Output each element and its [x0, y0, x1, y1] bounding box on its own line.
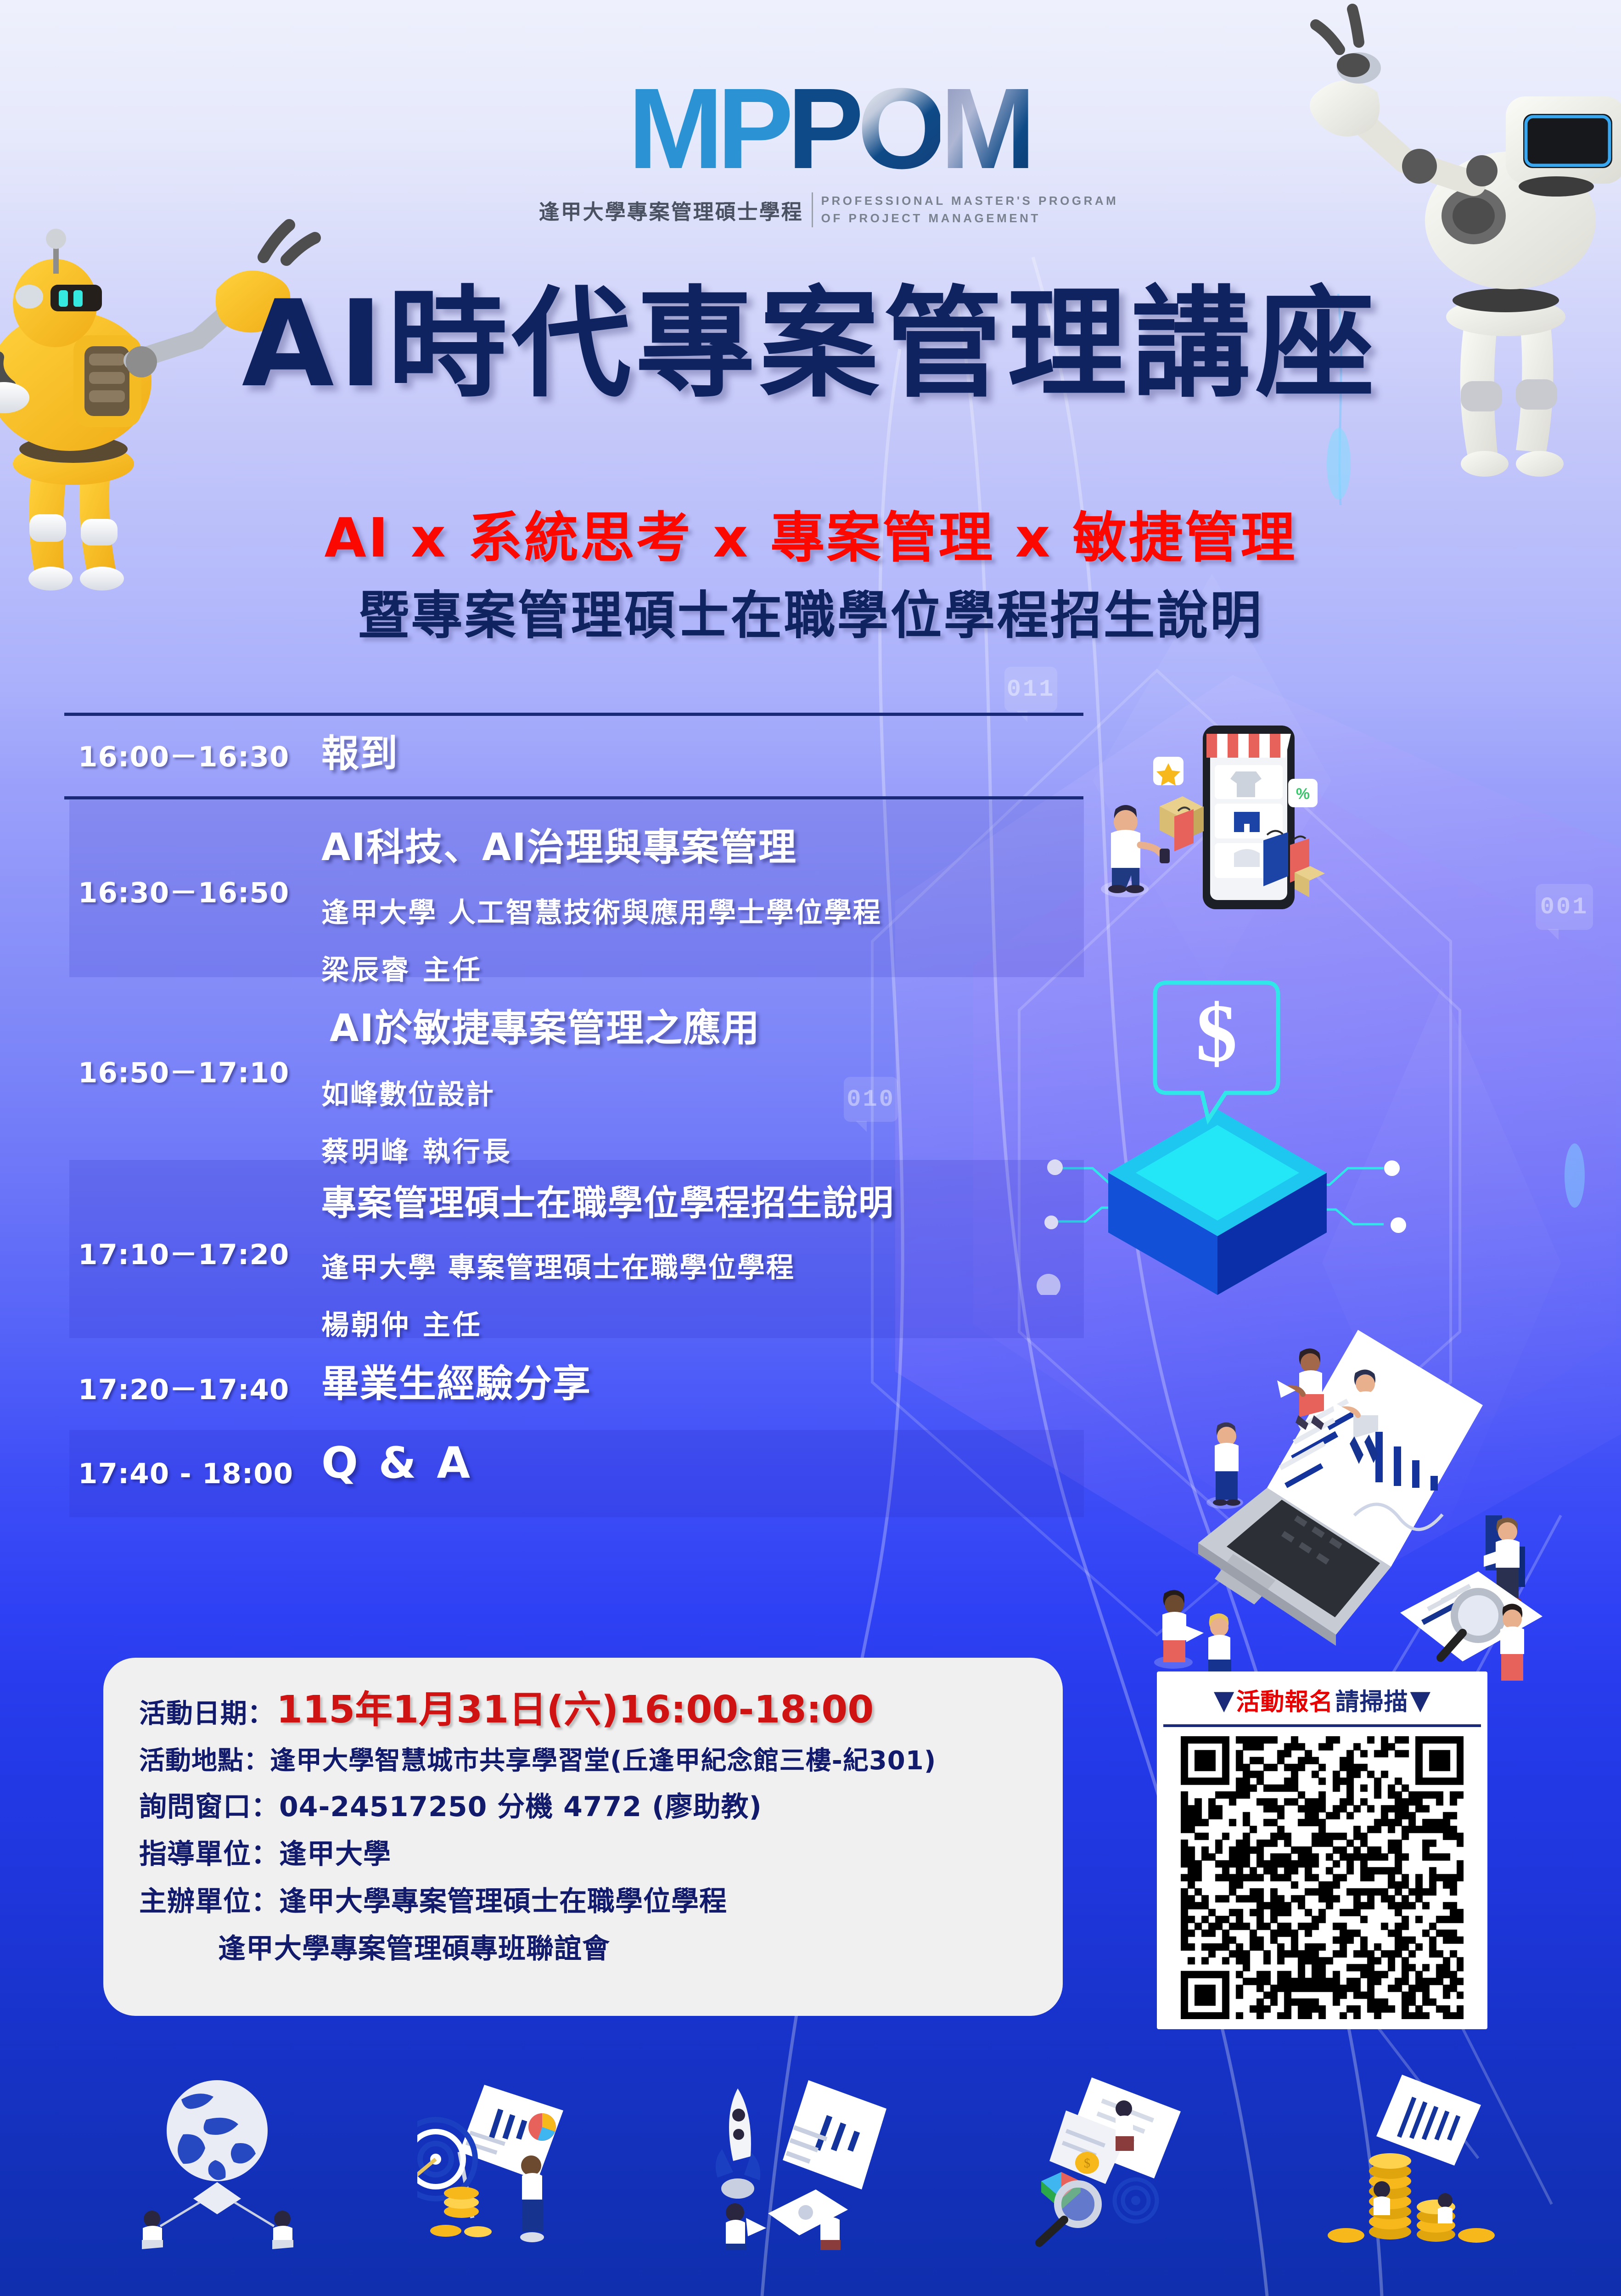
info-date-label: 活動日期：	[139, 1692, 275, 1730]
info-date-row: 活動日期： 115年1月31日(六)16:00-18:00	[103, 1679, 1063, 1733]
info-date-value: 115年1月31日(六)16:00-18:00	[276, 1679, 874, 1733]
schedule-topic-2: AI科技、AI治理與專案管理	[321, 816, 1070, 871]
schedule-topic-4: 專案管理碩士在職學位學程招生說明	[321, 1175, 1070, 1225]
schedule-org-4: 逢甲大學 專案管理碩士在職學位學程	[321, 1245, 1070, 1285]
svg-text:$: $	[1196, 987, 1237, 1079]
footer-illustration-row: $	[0, 2057, 1621, 2250]
qr-caption-red: 活動報名	[1236, 1683, 1333, 1717]
info-organizer: 主辦單位：逢甲大學專案管理碩士在職學位學程	[103, 1879, 1063, 1919]
schedule-org-2: 逢甲大學 人工智慧技術與應用學士學位學程	[321, 890, 1070, 930]
triangle-down-right-icon: ▼	[1410, 1687, 1431, 1713]
schedule-row-3: 16:50－17:10 AI於敏捷專案管理之應用 如峰數位設計 蔡明峰 執行長	[0, 981, 1129, 1158]
triangle-down-left-icon: ▼	[1214, 1687, 1234, 1713]
schedule-org-3: 如峰數位設計	[321, 1072, 1116, 1112]
logo-subtitle-english: PROFESSIONAL MASTER'S PROGRAM OF PROJECT…	[821, 192, 1119, 227]
logo-divider	[812, 192, 813, 227]
schedule-speaker-4: 楊朝仲 主任	[321, 1303, 1070, 1343]
rocket-analytics-illustration	[714, 2066, 907, 2250]
coins-growth-illustration	[1307, 2066, 1500, 2250]
schedule-topic-5: 畢業生經驗分享	[321, 1353, 1116, 1407]
schedule-body-2: AI科技、AI治理與專案管理 逢甲大學 人工智慧技術與應用學士學位學程 梁辰睿 …	[321, 816, 1070, 988]
qr-code-image[interactable]	[1181, 1736, 1464, 2019]
schedule-time-1: 16:00－16:30	[78, 734, 289, 775]
subtitle-navy: 暨專案管理碩士在職學位學程招生說明	[0, 574, 1621, 648]
schedule-body-3: AI於敏捷專案管理之應用 如峰數位設計 蔡明峰 執行長	[330, 997, 1116, 1170]
globe-network-illustration	[121, 2066, 314, 2250]
person-pair-bottom	[1154, 1590, 1231, 1681]
magnifier-document	[1400, 1571, 1542, 1681]
decor-tag-001: 001	[1536, 884, 1593, 930]
target-dashboard-illustration	[417, 2066, 610, 2250]
schedule-body-1: 報到	[321, 723, 1116, 777]
logo-wordmark: MPPOM	[628, 71, 1029, 186]
mppm-logo: MPPOM 逢甲大學專案管理碩士學程 PROFESSIONAL MASTER'S…	[530, 71, 1127, 269]
subtitle-red: AI x 系統思考 x 專案管理 x 敏捷管理	[0, 494, 1621, 572]
decor-tag-011: 011	[1004, 667, 1057, 712]
page-title: AI時代專案管理講座	[0, 285, 1621, 404]
schedule-time-2: 16:30－16:50	[78, 870, 289, 911]
info-advisor: 指導單位：逢甲大學	[103, 1832, 1063, 1872]
qr-caption: ▼ 活動報名 請掃描 ▼	[1163, 1678, 1481, 1727]
info-venue: 活動地點：逢甲大學智慧城市共享學習堂(丘逢甲紀念館三樓-紀301)	[103, 1740, 1063, 1777]
schedule-row-4: 17:10－17:20 專案管理碩士在職學位學程招生說明 逢甲大學 專案管理碩士…	[69, 1160, 1084, 1338]
logo-letter-p: P	[787, 64, 858, 192]
schedule-topic-3: AI於敏捷專案管理之應用	[330, 997, 1116, 1052]
logo-subtitle-en-line2: OF PROJECT MANAGEMENT	[821, 210, 1119, 227]
schedule-divider-row1	[64, 796, 1083, 799]
qr-registration-block[interactable]: ▼ 活動報名 請掃描 ▼	[1157, 1671, 1487, 2029]
schedule-row-6: 17:40 - 18:00 Q & A	[69, 1430, 1084, 1517]
person-standing-left	[1206, 1422, 1243, 1509]
schedule-row-5: 17:20－17:40 畢業生經驗分享	[0, 1338, 1129, 1430]
event-info-card: 活動日期： 115年1月31日(六)16:00-18:00 活動地點：逢甲大學智…	[103, 1658, 1063, 2016]
schedule-body-4: 專案管理碩士在職學位學程招生說明 逢甲大學 專案管理碩士在職學位學程 楊朝仲 主…	[321, 1175, 1070, 1343]
svg-text:$: $	[1084, 2156, 1090, 2171]
logo-subtitle-en-line1: PROFESSIONAL MASTER'S PROGRAM	[821, 192, 1119, 210]
info-contact: 詢問窗口：04-24517250 分機 4772 (廖助教)	[103, 1784, 1063, 1824]
schedule-topic-6: Q & A	[321, 1438, 1070, 1488]
schedule-topic-1: 報到	[321, 723, 1116, 777]
schedule-time-5: 17:20－17:40	[78, 1367, 289, 1407]
info-organizer-secondary: 逢甲大學專案管理碩專班聯誼會	[103, 1926, 1063, 1966]
schedule-row-1: 16:00－16:30 報到	[0, 713, 1129, 796]
qr-caption-navy: 請掃描	[1335, 1683, 1408, 1717]
laptop-team-illustration	[1116, 1240, 1621, 1681]
logo-letters-mp: MP	[628, 64, 787, 192]
poster-canvas: 011 001 010 MPPOM 逢甲大學專案管理碩士學程 PROFESSIO…	[0, 0, 1621, 2296]
schedule-time-3: 16:50－17:10	[78, 1050, 289, 1091]
logo-letter-m: M	[940, 71, 1029, 186]
schedule-time-6: 17:40 - 18:00	[78, 1458, 293, 1490]
svg-text:%: %	[1296, 785, 1310, 803]
schedule-body-5: 畢業生經驗分享	[321, 1353, 1116, 1407]
schedule-body-6: Q & A	[321, 1438, 1070, 1488]
logo-subtitle-chinese: 逢甲大學專案管理碩士學程	[539, 195, 803, 225]
logo-letter-o: O	[858, 71, 940, 186]
coin-stack-tall	[1369, 2153, 1411, 2240]
schedule-row-2: 16:30－16:50 AI科技、AI治理與專案管理 逢甲大學 人工智慧技術與應…	[69, 800, 1084, 977]
schedule-time-4: 17:10－17:20	[78, 1232, 289, 1272]
search-data-illustration: $	[1011, 2066, 1204, 2250]
logo-subtitle-row: 逢甲大學專案管理碩士學程 PROFESSIONAL MASTER'S PROGR…	[530, 192, 1127, 227]
